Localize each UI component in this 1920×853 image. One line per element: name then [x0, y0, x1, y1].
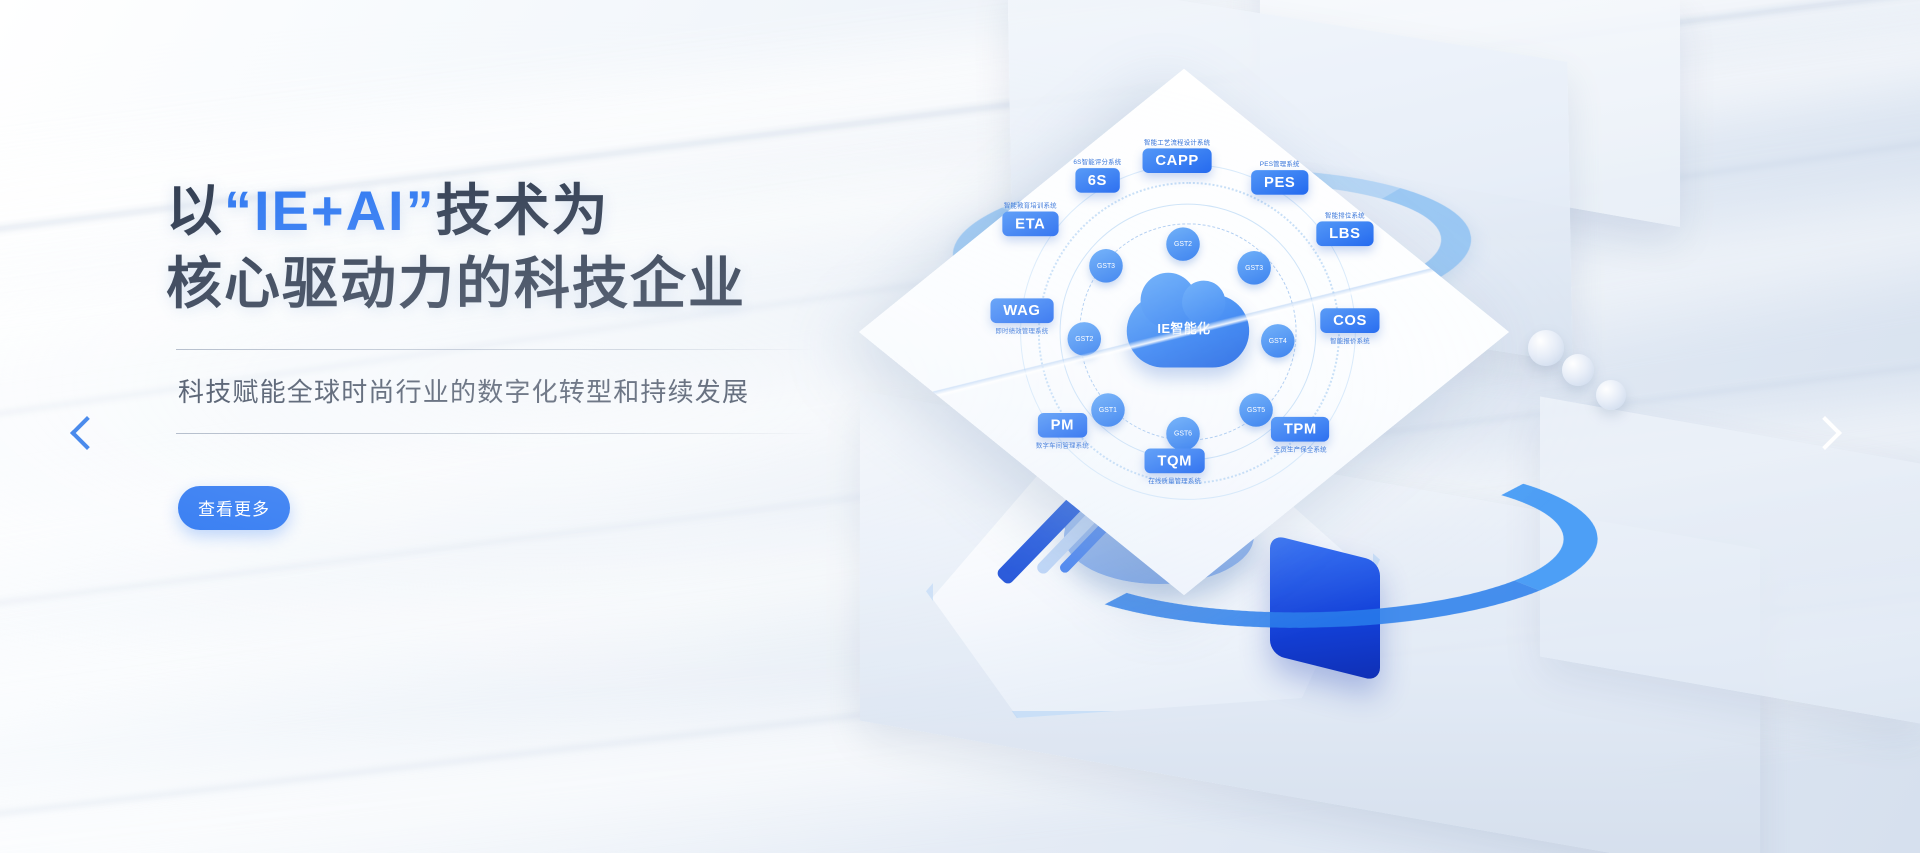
chevron-left-icon [70, 416, 104, 450]
divider-bottom [176, 433, 816, 434]
page-subtitle: 科技赋能全球时尚行业的数字化转型和持续发展 [178, 372, 926, 409]
headline-suffix: 技术为 [436, 179, 610, 242]
module-code: TPM [1271, 417, 1330, 442]
ie-intelligence-diagram: IE智能化 GST3 GST2 GST3 GST2 GST4 GST1 GST5… [969, 129, 1399, 534]
diagram-node: GST5 [1239, 393, 1273, 427]
module-code: LBS [1316, 221, 1373, 246]
module-name: 智能工艺流程设计系统 [1144, 137, 1210, 147]
module-name: 智能教育培训系统 [1004, 200, 1057, 210]
view-more-button[interactable]: 查看更多 [178, 486, 290, 530]
module-name: 在线质量管理系统 [1148, 475, 1201, 485]
module-name: 数字车间管理系统 [1036, 440, 1089, 450]
module-code: TQM [1145, 449, 1205, 474]
carousel-next-button[interactable] [1802, 410, 1848, 456]
diagram-node: GST1 [1091, 393, 1125, 427]
diagram-node: GST3 [1089, 249, 1123, 283]
module-tag-6s: 6S智能评分系统 6S [1073, 156, 1121, 193]
sphere-icon [1596, 380, 1626, 410]
module-tag-pes: PES管理系统 PES [1251, 158, 1308, 195]
chevron-right-icon [1808, 416, 1842, 450]
headline-prefix: 以 [166, 179, 224, 242]
module-tag-tpm: 全员生产保全系统 TPM [1271, 417, 1330, 454]
hero-banner: IE智能化 GST3 GST2 GST3 GST2 GST4 GST1 GST5… [0, 0, 1920, 853]
diagram-node: GST2 [1166, 227, 1200, 261]
module-code: ETA [1002, 212, 1058, 237]
page-title: 以“IE+AI”技术为 [166, 176, 926, 245]
module-name: PES管理系统 [1260, 158, 1300, 168]
page-title-line2: 核心驱动力的科技企业 [166, 249, 926, 318]
module-tag-lbs: 智能排位系统 LBS [1316, 210, 1373, 247]
headline-quote-close: ” [406, 179, 436, 242]
module-tag-capp: 智能工艺流程设计系统 CAPP [1143, 137, 1212, 174]
sphere-icon [1528, 330, 1564, 366]
diagram-node: GST3 [1237, 251, 1271, 285]
module-tag-eta: 智能教育培训系统 ETA [1002, 200, 1058, 237]
module-name: 6S智能评分系统 [1073, 156, 1121, 166]
module-tag-pm: 数字车间管理系统 PM [1036, 413, 1089, 450]
diagram-center-label: IE智能化 [969, 318, 1399, 337]
divider-top [176, 349, 816, 350]
hero-illustration: IE智能化 GST3 GST2 GST3 GST2 GST4 GST1 GST5… [880, 60, 1560, 760]
carousel-prev-button[interactable] [64, 410, 110, 456]
module-tag-tqm: 在线质量管理系统 TQM [1145, 449, 1205, 486]
diagram-node: GST6 [1166, 417, 1200, 451]
module-code: PES [1251, 170, 1308, 195]
sphere-icon [1562, 354, 1594, 386]
headline-accent: IE+AI [254, 179, 406, 242]
headline-quote-open: “ [224, 179, 254, 242]
module-name: 智能排位系统 [1325, 210, 1365, 220]
module-code: 6S [1075, 168, 1120, 193]
module-name: 全员生产保全系统 [1274, 444, 1327, 454]
module-code: CAPP [1143, 148, 1212, 173]
module-code: PM [1038, 413, 1087, 438]
hero-copy: 以“IE+AI”技术为 核心驱动力的科技企业 科技赋能全球时尚行业的数字化转型和… [166, 176, 926, 530]
